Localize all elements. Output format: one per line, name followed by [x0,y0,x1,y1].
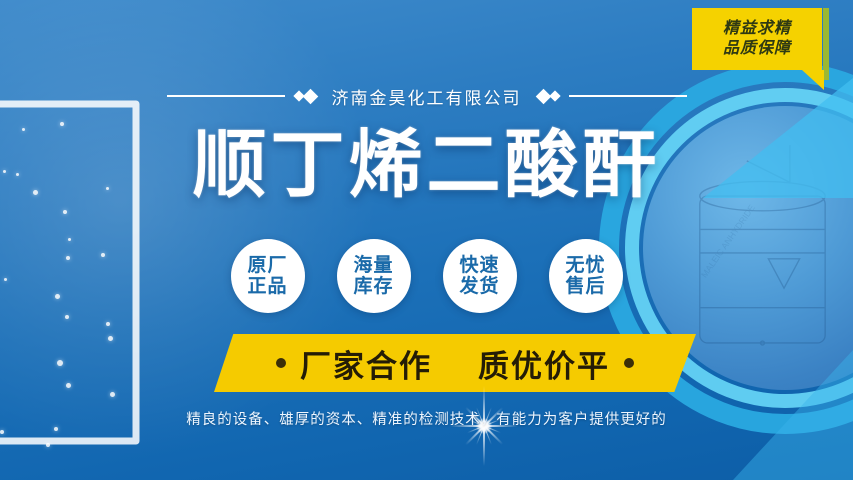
slogan-part2: 质优价平 [478,341,610,386]
feature-badge-shipping: 快速 发货 [443,239,517,313]
slogan-part1: 厂家合作 [300,341,432,386]
feature-badge-aftersales: 无忧 售后 [549,239,623,313]
quality-tag-line2: 品质保障 [723,39,791,59]
bullet-dot-right [624,358,634,368]
feature-line1: 无忧 [565,255,605,276]
feature-line2: 售后 [565,276,605,297]
quality-tag-line1: 精益求精 [723,19,791,39]
diamond-icon [302,88,318,104]
slogan-banner: 厂家合作 质优价平 [214,334,696,392]
feature-line1: 海量 [353,255,393,276]
feature-badge-original: 原厂 正品 [231,239,305,313]
feature-line2: 正品 [247,276,287,297]
quality-tag-stripe [823,8,829,80]
diamond-icon [549,90,560,101]
feature-line1: 原厂 [247,255,287,276]
divider-line-right [569,95,687,97]
diamond-ornament-right [538,91,559,102]
divider-line-left [167,95,285,97]
bottom-tagline: 精良的设备、雄厚的资本、精准的检测技术，有能力为客户提供更好的 [0,408,853,429]
quality-tag: 精益求精 品质保障 [692,8,822,70]
feature-line2: 库存 [353,276,393,297]
feature-line1: 快速 [459,255,499,276]
product-title: 顺丁烯二酸酐 [0,128,853,202]
promotional-banner: MALEIC ANHYDRIDE 精益求精 品质保障 济南金昊化工有限公司 顺丁… [0,0,853,480]
slogan-text-group: 厂家合作 质优价平 [276,341,634,386]
company-name-row: 济南金昊化工有限公司 [0,82,853,110]
feature-badges: 原厂 正品 海量 库存 快速 发货 无忧 售后 [0,236,853,316]
bullet-dot-left [276,358,286,368]
feature-line2: 发货 [459,276,499,297]
feature-badge-stock: 海量 库存 [337,239,411,313]
company-name: 济南金昊化工有限公司 [326,84,528,109]
diamond-ornament-left [295,91,316,102]
